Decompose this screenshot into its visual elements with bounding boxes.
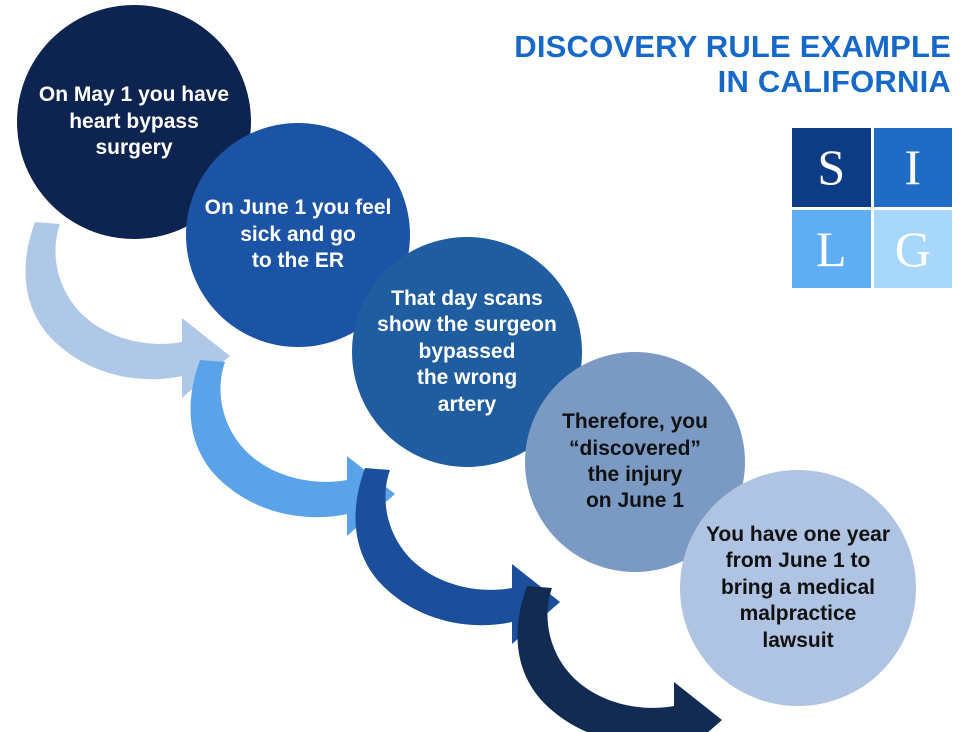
logo-cell-g: G — [874, 210, 953, 289]
logo-cell-s: S — [792, 128, 871, 207]
logo-cell-i: I — [874, 128, 953, 207]
step-1-label: On May 1 you have heart bypass surgery — [29, 82, 239, 161]
step-3-label: That day scans show the surgeon bypassed… — [367, 286, 567, 418]
page-title: DISCOVERY RULE EXAMPLE IN CALIFORNIA — [411, 30, 951, 99]
silg-logo: S I L G — [792, 128, 952, 288]
discovery-rule-infographic: On May 1 you have heart bypass surgery O… — [0, 0, 961, 732]
page-title-line-1: DISCOVERY RULE EXAMPLE — [411, 30, 951, 65]
logo-cell-l: L — [792, 210, 871, 289]
step-5-label: You have one year from June 1 to bring a… — [696, 522, 900, 654]
step-4-label: Therefore, you “discovered” the injury o… — [552, 409, 718, 515]
step-2-label: On June 1 you feel sick and go to the ER — [195, 195, 402, 274]
step-circle-5: You have one year from June 1 to bring a… — [680, 470, 916, 706]
page-title-line-2: IN CALIFORNIA — [411, 65, 951, 100]
